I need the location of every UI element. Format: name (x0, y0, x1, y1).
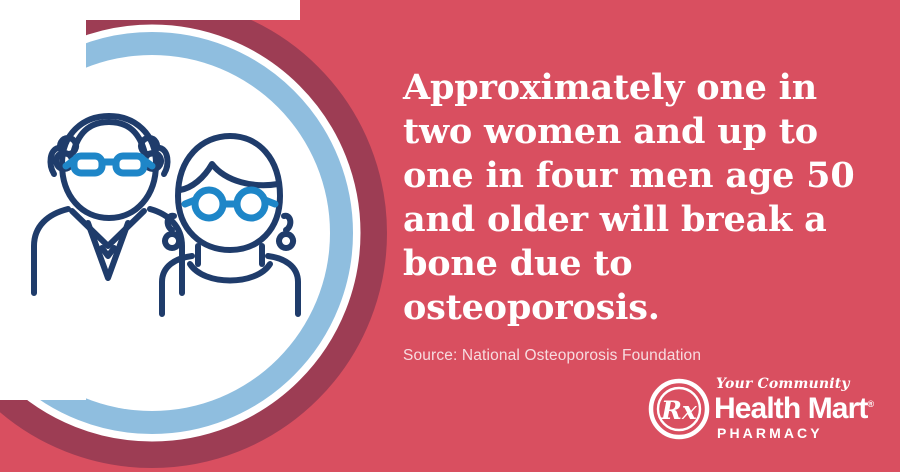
top-white-panel (0, 0, 300, 20)
logo-tagline: Your Community (716, 376, 850, 392)
woman-glasses-icon (185, 190, 275, 218)
registered-mark: ® (867, 399, 874, 409)
woman-neckline (190, 264, 270, 281)
man-shirt-v (88, 223, 128, 278)
health-mart-logo[interactable]: Rx Your Community Health Mart® PHARMACY (648, 376, 874, 442)
text-block: Approximately one in two women and up to… (403, 66, 873, 365)
woman-ear-right (284, 216, 290, 230)
elderly-couple-illustration (22, 78, 312, 318)
logo-subtitle: PHARMACY (717, 425, 823, 441)
poster-canvas: Approximately one in two women and up to… (0, 0, 900, 472)
rx-circle-icon: Rx (648, 378, 710, 440)
logo-brand-text: Health Mart (714, 392, 867, 425)
man-shoulder-left (34, 209, 68, 293)
woman-earring-left (165, 234, 179, 248)
figure-elderly-man (34, 116, 182, 293)
rx-monogram-text: Rx (660, 396, 698, 425)
source-attribution: Source: National Osteoporosis Foundation (403, 330, 873, 365)
woman-head (178, 136, 280, 250)
logo-brand-name: Health Mart® (714, 392, 874, 426)
man-tie-knot (102, 248, 114, 256)
man-glasses-icon (66, 156, 152, 173)
man-crown-line (74, 122, 144, 150)
woman-earring-right (279, 234, 293, 248)
woman-bangs (180, 164, 278, 190)
headline-text: Approximately one in two women and up to… (403, 66, 873, 330)
logo-wordmark: Your Community Health Mart® PHARMACY (714, 376, 874, 442)
